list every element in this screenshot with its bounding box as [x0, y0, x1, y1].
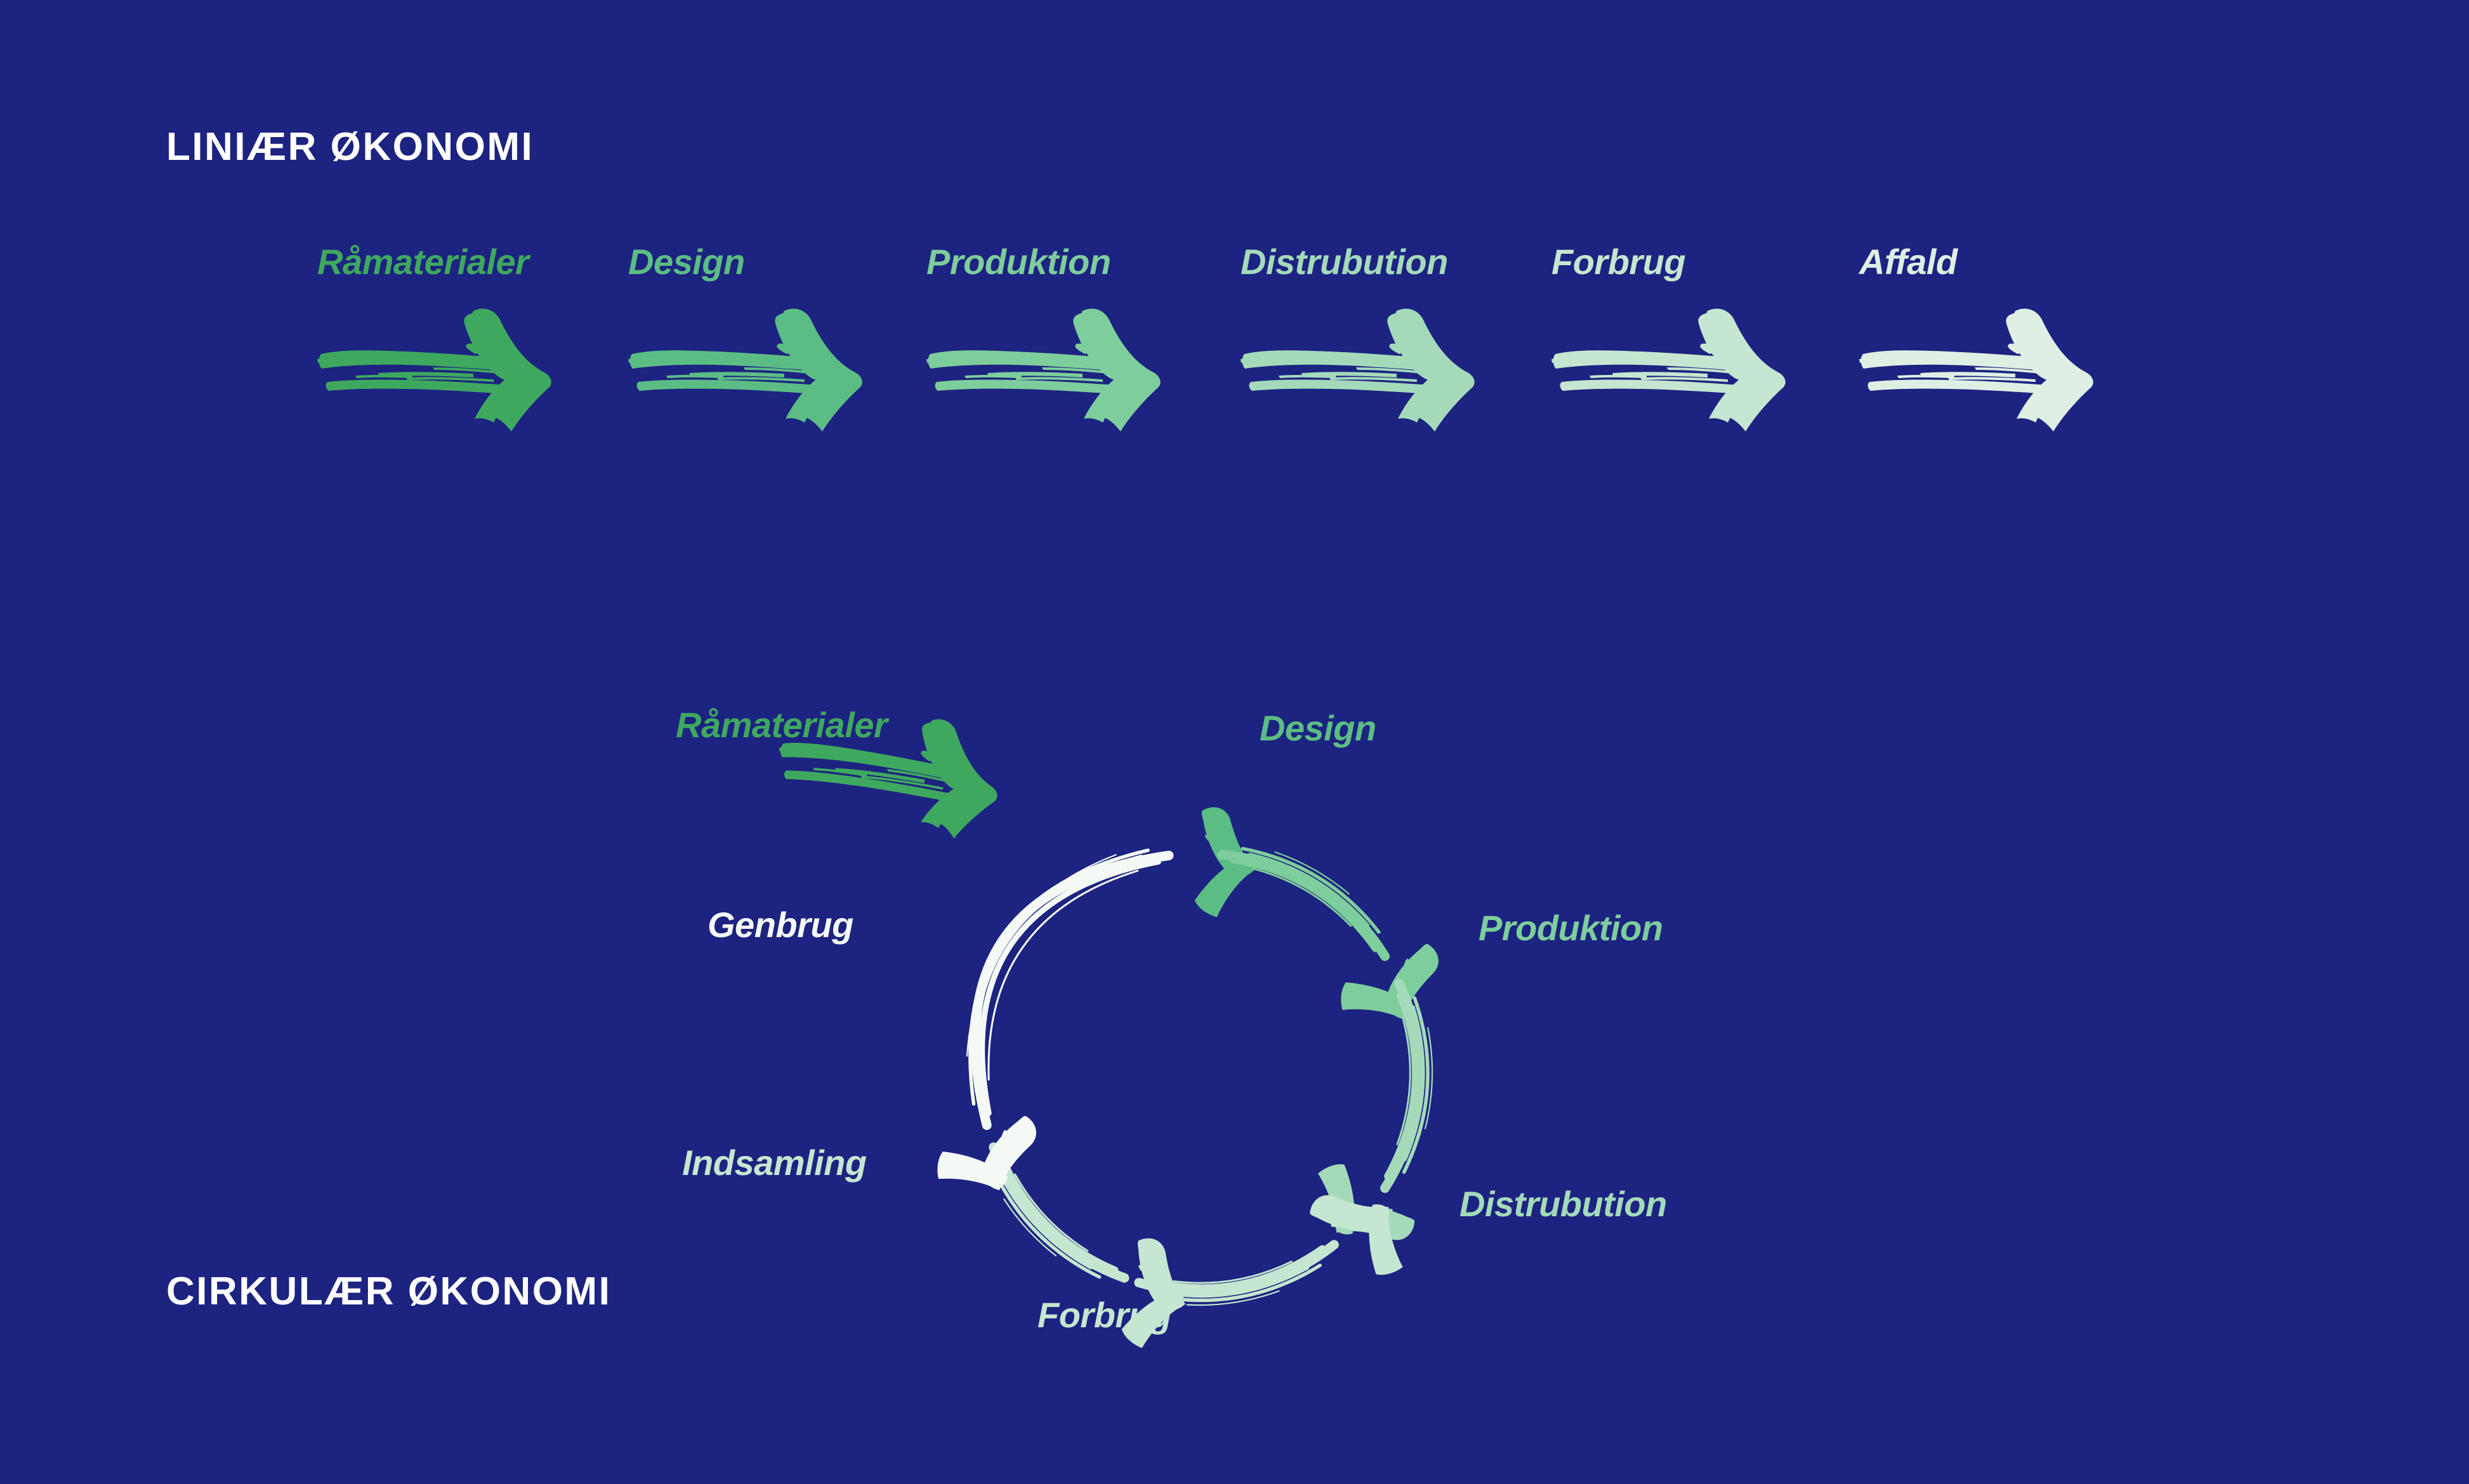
- cycle-arrow-stroke: [989, 871, 1138, 1080]
- circular-arrow-ring: [876, 749, 1523, 1396]
- brush-arrow-icon: [1551, 305, 1805, 431]
- linear-step-arrow: [628, 305, 882, 431]
- linear-step-3: Produktion: [926, 241, 1199, 444]
- cycle-arrow-stroke: [982, 862, 1159, 1113]
- linear-step-arrow: [317, 305, 571, 431]
- linear-step-label: Distrubution: [1241, 241, 1513, 282]
- linear-step-label: Affald: [1859, 241, 2132, 282]
- linear-step-label: Produktion: [926, 241, 1199, 282]
- cycle-step-label: Design: [1260, 707, 1376, 749]
- brush-arrow-icon: [628, 305, 882, 431]
- linear-step-label: Forbrug: [1551, 241, 1824, 282]
- cycle-step-label: Indsamling: [682, 1142, 867, 1183]
- linear-economy-flow: Råmaterialer Design: [0, 241, 2469, 444]
- brush-arrow-icon: [1859, 305, 2113, 431]
- infographic-canvas: LINIÆR ØKONOMI Råmaterialer Design: [0, 0, 2469, 1484]
- linear-step-1: Råmaterialer: [317, 241, 590, 444]
- linear-step-4: Distrubution: [1241, 241, 1513, 444]
- linear-step-label: Design: [628, 241, 901, 282]
- cycle-step-label: Råmaterialer: [676, 704, 887, 745]
- linear-step-arrow: [926, 305, 1180, 431]
- linear-step-label: Råmaterialer: [317, 241, 590, 282]
- linear-step-2: Design: [628, 241, 901, 444]
- linear-step-arrow: [1859, 305, 2113, 431]
- brush-arrow-icon: [1241, 305, 1494, 431]
- cycle-arrow-7: [929, 850, 1169, 1210]
- cycle-step-label: Produktion: [1478, 907, 1663, 949]
- linear-step-arrow: [1241, 305, 1494, 431]
- circular-economy-heading: CIRKULÆR ØKONOMI: [166, 1269, 611, 1314]
- cycle-arrowhead-icon: [1332, 942, 1456, 1040]
- brush-arrow-icon: [926, 305, 1180, 431]
- brush-arrow-icon: [317, 305, 571, 431]
- cycle-step-label: Distrubution: [1459, 1183, 1667, 1225]
- linear-step-arrow: [1551, 305, 1805, 431]
- linear-step-5: Forbrug: [1551, 241, 1824, 444]
- cycle-step-label: Forbrug: [1037, 1294, 1171, 1336]
- linear-step-6: Affald: [1859, 241, 2132, 444]
- cycle-step-label: Genbrug: [708, 904, 853, 945]
- cycle-arrow-stroke: [975, 855, 1169, 1125]
- linear-economy-heading: LINIÆR ØKONOMI: [166, 124, 534, 169]
- cycle-arrow-stroke: [975, 856, 1141, 1092]
- circular-economy-cycle: RåmaterialerDesignProduktionDistrubution…: [876, 749, 1523, 1396]
- cycle-arrowhead-shape: [1332, 942, 1456, 1040]
